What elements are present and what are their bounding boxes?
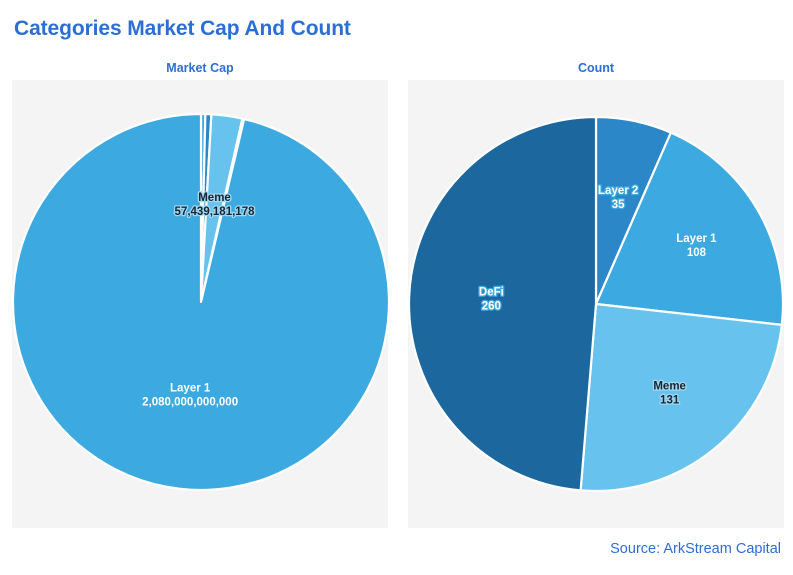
pie-slice-label-name: Layer 2 [598, 185, 638, 197]
pie-chart-market-cap: Meme57,439,181,178Layer 12,080,000,000,0… [12, 80, 388, 528]
pie-slice-label-name: Layer 1 [170, 382, 211, 394]
page-title: Categories Market Cap And Count [14, 17, 351, 41]
pie-chart-count: Layer 235Layer 1108Meme131DeFi260 [408, 80, 784, 528]
pie-slice-label-value: 35 [612, 199, 625, 211]
pie-slice-label-name: Layer 1 [676, 233, 717, 245]
pie-slice-label-value: 108 [687, 247, 707, 259]
subtitle-count: Count [408, 61, 784, 75]
pie-slices [409, 117, 783, 491]
chart-page: Categories Market Cap And Count Market C… [0, 0, 793, 575]
pie-slice-label-value: 57,439,181,178 [175, 206, 256, 218]
pie-slice-label-name: Meme [653, 381, 686, 393]
pie-slice[interactable] [13, 114, 389, 490]
pie-chart-market-cap-panel: Meme57,439,181,178Layer 12,080,000,000,0… [12, 80, 388, 528]
pie-slice-label-name: Meme [198, 192, 231, 204]
pie-slice[interactable] [581, 304, 782, 491]
source-attribution: Source: ArkStream Capital [610, 541, 781, 557]
pie-slice-label-value: 131 [660, 395, 680, 407]
pie-slice-label-name: DeFi [479, 287, 504, 299]
pie-slice-label-value: 260 [482, 301, 501, 313]
pie-chart-count-panel: Layer 235Layer 1108Meme131DeFi260 [408, 80, 784, 528]
pie-slice[interactable] [409, 117, 596, 490]
subtitle-market-cap: Market Cap [12, 61, 388, 75]
pie-slices [13, 114, 389, 490]
pie-slice-label-value: 2,080,000,000,000 [142, 396, 238, 408]
